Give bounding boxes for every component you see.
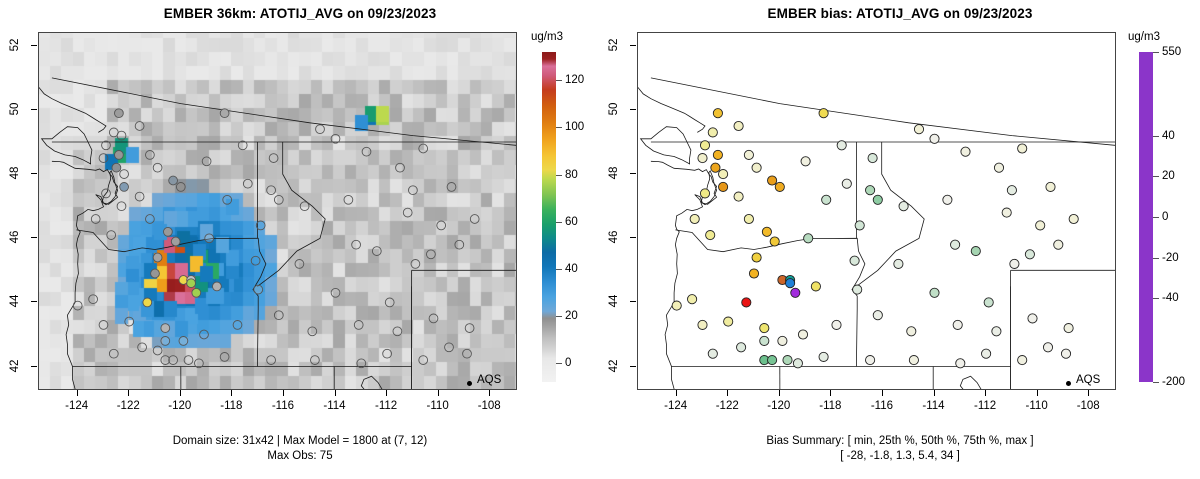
observation-marker[interactable] xyxy=(176,183,185,192)
observation-marker[interactable] xyxy=(267,356,276,365)
colorbar-tick xyxy=(556,80,562,81)
map-plot-area-model[interactable] xyxy=(38,32,517,390)
bias-marker[interactable] xyxy=(1028,314,1037,323)
observation-marker[interactable] xyxy=(153,163,162,172)
bias-marker[interactable] xyxy=(971,247,980,256)
bias-marker[interactable] xyxy=(719,182,728,191)
x-tick xyxy=(985,390,986,396)
colorbar-tick-label: 100 xyxy=(565,121,584,133)
observation-marker[interactable] xyxy=(107,231,116,240)
map-boundary-path xyxy=(412,367,464,390)
observation-marker[interactable] xyxy=(411,260,420,269)
observation-marker[interactable] xyxy=(195,359,204,368)
bias-marker[interactable] xyxy=(711,163,720,172)
observation-marker[interactable] xyxy=(179,337,188,346)
x-tick-label: -108 xyxy=(478,400,501,412)
observation-marker[interactable] xyxy=(161,337,170,346)
y-tick-label: 52 xyxy=(608,30,620,60)
figure-root: EMBER 36km: ATOTIJ_AVG on 09/23/2023 -12… xyxy=(0,0,1200,479)
bias-marker[interactable] xyxy=(724,317,733,326)
bias-marker[interactable] xyxy=(866,186,875,195)
observation-marker[interactable] xyxy=(171,237,180,246)
y-tick xyxy=(630,109,636,110)
bias-marker[interactable] xyxy=(708,128,717,137)
map-boundary-path xyxy=(641,127,691,164)
x-tick-label: -122 xyxy=(117,400,140,412)
bias-marker[interactable] xyxy=(713,150,722,159)
map-boundary-path xyxy=(39,46,106,133)
observation-marker[interactable] xyxy=(269,154,278,163)
bias-marker[interactable] xyxy=(953,320,962,329)
bias-marker[interactable] xyxy=(734,192,743,201)
observation-marker[interactable] xyxy=(254,285,263,294)
colorbar-tick xyxy=(556,175,562,176)
bias-marker[interactable] xyxy=(749,269,758,278)
observation-marker[interactable] xyxy=(316,125,325,134)
y-tick xyxy=(31,237,37,238)
bias-marker[interactable] xyxy=(1054,240,1063,249)
colorbar-tick-label: 20 xyxy=(565,310,578,322)
colorbar-tick-label: -40 xyxy=(1162,292,1179,304)
observation-marker[interactable] xyxy=(419,144,428,153)
bias-marker[interactable] xyxy=(713,109,722,118)
map-boundary-path xyxy=(42,127,92,164)
bias-marker[interactable] xyxy=(909,356,918,365)
observation-marker[interactable] xyxy=(308,327,317,336)
colorbar-tick-label: 80 xyxy=(565,169,578,181)
observation-marker[interactable] xyxy=(455,240,464,249)
bias-marker[interactable] xyxy=(951,240,960,249)
y-tick xyxy=(630,301,636,302)
observation-marker[interactable] xyxy=(372,247,381,256)
observation-marker[interactable] xyxy=(117,131,126,140)
observation-marker[interactable] xyxy=(223,195,232,204)
x-tick-label: -116 xyxy=(272,400,294,412)
bias-marker[interactable] xyxy=(907,327,916,336)
x-tick-label: -114 xyxy=(922,400,944,412)
bias-marker[interactable] xyxy=(786,279,795,288)
x-tick-label: -108 xyxy=(1077,400,1100,412)
y-tick-label: 52 xyxy=(9,30,21,60)
observation-marker[interactable] xyxy=(143,298,152,307)
x-tick-label: -120 xyxy=(168,400,191,412)
y-tick-label: 48 xyxy=(9,158,21,188)
bias-marker[interactable] xyxy=(737,343,746,352)
bias-marker[interactable] xyxy=(791,288,800,297)
colorbar-tick xyxy=(1153,136,1159,137)
bias-marker[interactable] xyxy=(1025,250,1034,259)
observation-marker[interactable] xyxy=(138,343,147,352)
observation-marker[interactable] xyxy=(300,202,309,211)
y-tick xyxy=(630,366,636,367)
observation-marker[interactable] xyxy=(117,202,126,211)
x-tick xyxy=(231,390,232,396)
observation-marker[interactable] xyxy=(120,183,129,192)
observation-marker[interactable] xyxy=(352,240,361,249)
y-tick-label: 50 xyxy=(608,94,620,124)
bias-marker[interactable] xyxy=(899,202,908,211)
bias-marker[interactable] xyxy=(1043,343,1052,352)
observation-marker[interactable] xyxy=(354,321,363,330)
colorbar-tick xyxy=(556,269,562,270)
observation-marker[interactable] xyxy=(220,109,229,118)
bias-marker[interactable] xyxy=(943,195,952,204)
bias-marker[interactable] xyxy=(698,320,707,329)
aqs-legend-dot-bias xyxy=(1066,381,1071,386)
bias-marker[interactable] xyxy=(778,336,787,345)
bias-marker[interactable] xyxy=(768,176,777,185)
colorbar-tick xyxy=(556,363,562,364)
bias-marker[interactable] xyxy=(744,214,753,223)
observation-marker[interactable] xyxy=(295,260,304,269)
y-tick-label: 44 xyxy=(9,286,21,316)
colorbar-tick-label: 40 xyxy=(565,263,578,275)
map-boundary-path xyxy=(960,376,981,389)
colorbar-tick xyxy=(556,222,562,223)
colorbar-units-model: ug/m3 xyxy=(531,31,563,43)
colorbar-tick-label: 0 xyxy=(1162,211,1168,223)
caption-bias-line2: [ -28, -1.8, 1.3, 5.4, 34 ] xyxy=(600,449,1200,464)
observation-marker[interactable] xyxy=(99,154,108,163)
bias-marker[interactable] xyxy=(982,349,991,358)
colorbar-gradient xyxy=(542,52,556,382)
bias-marker[interactable] xyxy=(837,141,846,150)
x-tick xyxy=(335,390,336,396)
y-tick-label: 44 xyxy=(608,286,620,316)
bias-marker[interactable] xyxy=(752,253,761,262)
colorbar-tick-label: 40 xyxy=(1162,130,1175,142)
panel-model: EMBER 36km: ATOTIJ_AVG on 09/23/2023 -12… xyxy=(0,0,600,479)
map-boundary-path xyxy=(253,251,266,366)
observation-marker[interactable] xyxy=(344,195,353,204)
observation-marker[interactable] xyxy=(109,349,118,358)
colorbar-tick xyxy=(1153,52,1159,53)
observation-marker[interactable] xyxy=(427,250,436,259)
x-tick-label: -114 xyxy=(323,400,345,412)
bias-marker[interactable] xyxy=(804,234,813,243)
observation-marker[interactable] xyxy=(429,314,438,323)
y-tick xyxy=(31,109,37,110)
x-tick-label: -112 xyxy=(375,400,397,412)
colorbar-tick-label: 550 xyxy=(1162,46,1181,58)
y-tick-label: 50 xyxy=(9,94,21,124)
map-boundary-path xyxy=(701,171,716,205)
observation-marker[interactable] xyxy=(243,179,252,188)
observation-marker[interactable] xyxy=(362,147,371,156)
bias-marker[interactable] xyxy=(768,356,777,365)
observation-marker[interactable] xyxy=(91,215,100,224)
observation-marker[interactable] xyxy=(89,295,98,304)
observation-marker[interactable] xyxy=(115,151,124,160)
colorbar-tick-label: 120 xyxy=(565,74,584,86)
x-tick xyxy=(934,390,935,396)
bias-marker[interactable] xyxy=(868,154,877,163)
x-tick-label: -118 xyxy=(220,400,242,412)
model-overlay xyxy=(39,33,516,389)
observation-marker[interactable] xyxy=(331,288,340,297)
observation-marker[interactable] xyxy=(403,208,412,217)
map-boundary-path xyxy=(257,142,325,286)
bias-marker[interactable] xyxy=(762,227,771,236)
map-boundary-path xyxy=(638,46,705,133)
y-tick xyxy=(630,45,636,46)
bias-marker[interactable] xyxy=(752,163,761,172)
bias-marker[interactable] xyxy=(760,336,769,345)
x-tick xyxy=(1088,390,1089,396)
bias-marker[interactable] xyxy=(744,150,753,159)
x-tick-label: -120 xyxy=(767,400,790,412)
bias-marker[interactable] xyxy=(783,356,792,365)
x-tick xyxy=(779,390,780,396)
colorbar-tick xyxy=(556,316,562,317)
x-tick-label: -118 xyxy=(819,400,841,412)
observation-marker[interactable] xyxy=(120,170,129,179)
bias-marker[interactable] xyxy=(793,359,802,368)
observation-marker[interactable] xyxy=(205,234,214,243)
y-tick-label: 42 xyxy=(9,351,21,381)
observation-marker[interactable] xyxy=(437,221,446,230)
y-tick xyxy=(31,45,37,46)
colorbar-tick-label: -20 xyxy=(1162,252,1179,264)
observation-marker[interactable] xyxy=(169,176,178,185)
observation-marker[interactable] xyxy=(135,192,144,201)
colorbar-tick xyxy=(1153,217,1159,218)
observation-marker[interactable] xyxy=(465,324,474,333)
bias-marker[interactable] xyxy=(700,141,709,150)
bias-marker[interactable] xyxy=(775,182,784,191)
aqs-legend-label-bias: AQS xyxy=(1076,374,1100,386)
observation-marker[interactable] xyxy=(251,256,260,265)
x-tick xyxy=(489,390,490,396)
observation-marker[interactable] xyxy=(396,163,405,172)
y-tick-label: 48 xyxy=(608,158,620,188)
x-tick-label: -116 xyxy=(871,400,893,412)
colorbar-tick-label: -200 xyxy=(1162,376,1185,388)
observation-marker[interactable] xyxy=(73,301,82,310)
colorbar-tick xyxy=(1153,258,1159,259)
bias-marker[interactable] xyxy=(994,163,1003,172)
observation-marker[interactable] xyxy=(233,321,242,330)
bias-marker[interactable] xyxy=(853,285,862,294)
map-boundary-path xyxy=(856,142,924,286)
bias-marker[interactable] xyxy=(1046,182,1055,191)
colorbar-model[interactable]: 020406080100120 xyxy=(542,52,602,382)
observation-marker[interactable] xyxy=(385,298,394,307)
y-tick-label: 42 xyxy=(608,351,620,381)
bias-marker[interactable] xyxy=(873,311,882,320)
colorbar-tick xyxy=(1153,176,1159,177)
x-tick-label: -110 xyxy=(1026,400,1048,412)
bias-overlay xyxy=(638,33,1115,389)
observation-marker[interactable] xyxy=(463,349,472,358)
observation-marker[interactable] xyxy=(192,288,201,297)
bias-marker[interactable] xyxy=(832,320,841,329)
observation-marker[interactable] xyxy=(169,356,178,365)
bias-marker[interactable] xyxy=(688,295,697,304)
y-tick xyxy=(31,173,37,174)
observation-marker[interactable] xyxy=(153,253,162,262)
observation-marker[interactable] xyxy=(153,346,162,355)
aqs-legend-label-model: AQS xyxy=(477,374,501,386)
observation-marker[interactable] xyxy=(151,269,160,278)
bias-marker[interactable] xyxy=(798,330,807,339)
bias-marker[interactable] xyxy=(866,356,875,365)
x-tick xyxy=(77,390,78,396)
bias-marker[interactable] xyxy=(801,157,810,166)
y-tick xyxy=(31,366,37,367)
bias-marker[interactable] xyxy=(708,349,717,358)
map-boundary-path xyxy=(852,251,865,366)
bias-marker[interactable] xyxy=(894,259,903,268)
observation-marker[interactable] xyxy=(445,343,454,352)
bias-marker[interactable] xyxy=(850,256,859,265)
observation-marker[interactable] xyxy=(125,317,134,326)
observation-marker[interactable] xyxy=(184,356,193,365)
panel-bias: EMBER bias: ATOTIJ_AVG on 09/23/2023 -12… xyxy=(600,0,1200,479)
colorbar-gradient xyxy=(1139,52,1153,382)
observation-marker[interactable] xyxy=(200,330,209,339)
panel-bias-title: EMBER bias: ATOTIJ_AVG on 09/23/2023 xyxy=(600,6,1200,21)
bias-marker[interactable] xyxy=(760,324,769,333)
y-tick xyxy=(31,301,37,302)
bias-marker[interactable] xyxy=(822,195,831,204)
bias-marker[interactable] xyxy=(672,301,681,310)
y-tick-label: 46 xyxy=(9,222,21,252)
observation-marker[interactable] xyxy=(383,349,392,358)
x-tick-label: -112 xyxy=(974,400,996,412)
bias-marker[interactable] xyxy=(1036,221,1045,230)
bias-marker[interactable] xyxy=(956,359,965,368)
caption-model-line1: Domain size: 31x42 | Max Model = 1800 at… xyxy=(0,434,600,449)
observation-marker[interactable] xyxy=(146,215,155,224)
bias-marker[interactable] xyxy=(1018,144,1027,153)
map-boundary-path xyxy=(1011,367,1063,390)
bias-marker[interactable] xyxy=(992,327,1001,336)
observation-marker[interactable] xyxy=(99,321,108,330)
bias-marker[interactable] xyxy=(706,231,715,240)
panel-model-title: EMBER 36km: ATOTIJ_AVG on 09/23/2023 xyxy=(0,6,600,21)
x-tick xyxy=(128,390,129,396)
colorbar-tick xyxy=(1153,298,1159,299)
bias-marker[interactable] xyxy=(734,121,743,130)
observation-marker[interactable] xyxy=(220,353,229,362)
observation-marker[interactable] xyxy=(274,195,283,204)
observation-marker[interactable] xyxy=(161,324,170,333)
bias-marker[interactable] xyxy=(1007,186,1016,195)
map-boundary-path xyxy=(102,171,117,205)
observation-marker[interactable] xyxy=(115,109,124,118)
x-tick xyxy=(676,390,677,396)
caption-model-line2: Max Obs: 75 xyxy=(0,449,600,464)
colorbar-units-bias: ug/m3 xyxy=(1128,31,1160,43)
observation-marker[interactable] xyxy=(447,183,456,192)
bias-marker[interactable] xyxy=(819,109,828,118)
x-tick xyxy=(438,390,439,396)
bias-marker[interactable] xyxy=(930,134,939,143)
observation-marker[interactable] xyxy=(419,356,428,365)
bias-marker[interactable] xyxy=(690,214,699,223)
map-boundary-path xyxy=(52,161,118,389)
bias-marker[interactable] xyxy=(1069,214,1078,223)
x-tick xyxy=(180,390,181,396)
observation-marker[interactable] xyxy=(267,186,276,195)
bias-marker[interactable] xyxy=(742,298,751,307)
observation-marker[interactable] xyxy=(146,151,155,160)
x-tick xyxy=(830,390,831,396)
bias-marker[interactable] xyxy=(1002,208,1011,217)
colorbar-bias[interactable]: -200-40-2002040550 xyxy=(1139,52,1199,382)
bias-marker[interactable] xyxy=(819,352,828,361)
bias-marker[interactable] xyxy=(719,170,728,179)
bias-marker[interactable] xyxy=(873,195,882,204)
x-tick xyxy=(727,390,728,396)
bias-marker[interactable] xyxy=(961,147,970,156)
bias-marker[interactable] xyxy=(770,237,779,246)
bias-marker[interactable] xyxy=(1018,356,1027,365)
x-tick xyxy=(1037,390,1038,396)
x-tick-label: -124 xyxy=(65,400,88,412)
x-tick xyxy=(283,390,284,396)
y-tick xyxy=(630,173,636,174)
x-tick-label: -124 xyxy=(664,400,687,412)
bias-marker[interactable] xyxy=(855,221,864,230)
observation-marker[interactable] xyxy=(164,227,173,236)
bias-marker[interactable] xyxy=(1010,259,1019,268)
map-boundary-path xyxy=(361,376,382,389)
observation-marker[interactable] xyxy=(409,186,418,195)
observation-marker[interactable] xyxy=(202,157,211,166)
x-tick-label: -122 xyxy=(716,400,739,412)
colorbar-tick xyxy=(1153,382,1159,383)
observation-marker[interactable] xyxy=(112,163,121,172)
bias-marker[interactable] xyxy=(930,288,939,297)
colorbar-tick-label: 20 xyxy=(1162,170,1175,182)
aqs-legend-dot xyxy=(467,381,472,386)
observation-marker[interactable] xyxy=(274,311,283,320)
bias-marker[interactable] xyxy=(1064,324,1073,333)
x-tick xyxy=(882,390,883,396)
y-tick xyxy=(630,237,636,238)
colorbar-tick-label: 60 xyxy=(565,216,578,228)
y-tick-label: 46 xyxy=(608,222,620,252)
colorbar-tick-label: 0 xyxy=(565,357,571,369)
observation-marker[interactable] xyxy=(470,215,479,224)
bias-marker[interactable] xyxy=(1061,349,1070,358)
colorbar-tick xyxy=(556,127,562,128)
observation-marker[interactable] xyxy=(393,327,402,336)
bias-marker[interactable] xyxy=(984,298,993,307)
caption-bias-line1: Bias Summary: [ min, 25th %, 50th %, 75t… xyxy=(600,434,1200,449)
bias-marker[interactable] xyxy=(700,189,709,198)
bias-marker[interactable] xyxy=(811,282,820,291)
observation-marker[interactable] xyxy=(187,279,196,288)
bias-marker[interactable] xyxy=(842,179,851,188)
observation-marker[interactable] xyxy=(135,122,144,131)
map-plot-area-bias[interactable] xyxy=(637,32,1116,390)
bias-marker[interactable] xyxy=(698,154,707,163)
observation-marker[interactable] xyxy=(213,282,222,291)
x-tick xyxy=(386,390,387,396)
observation-marker[interactable] xyxy=(311,356,320,365)
x-tick-label: -110 xyxy=(427,400,449,412)
bias-marker[interactable] xyxy=(914,125,923,134)
